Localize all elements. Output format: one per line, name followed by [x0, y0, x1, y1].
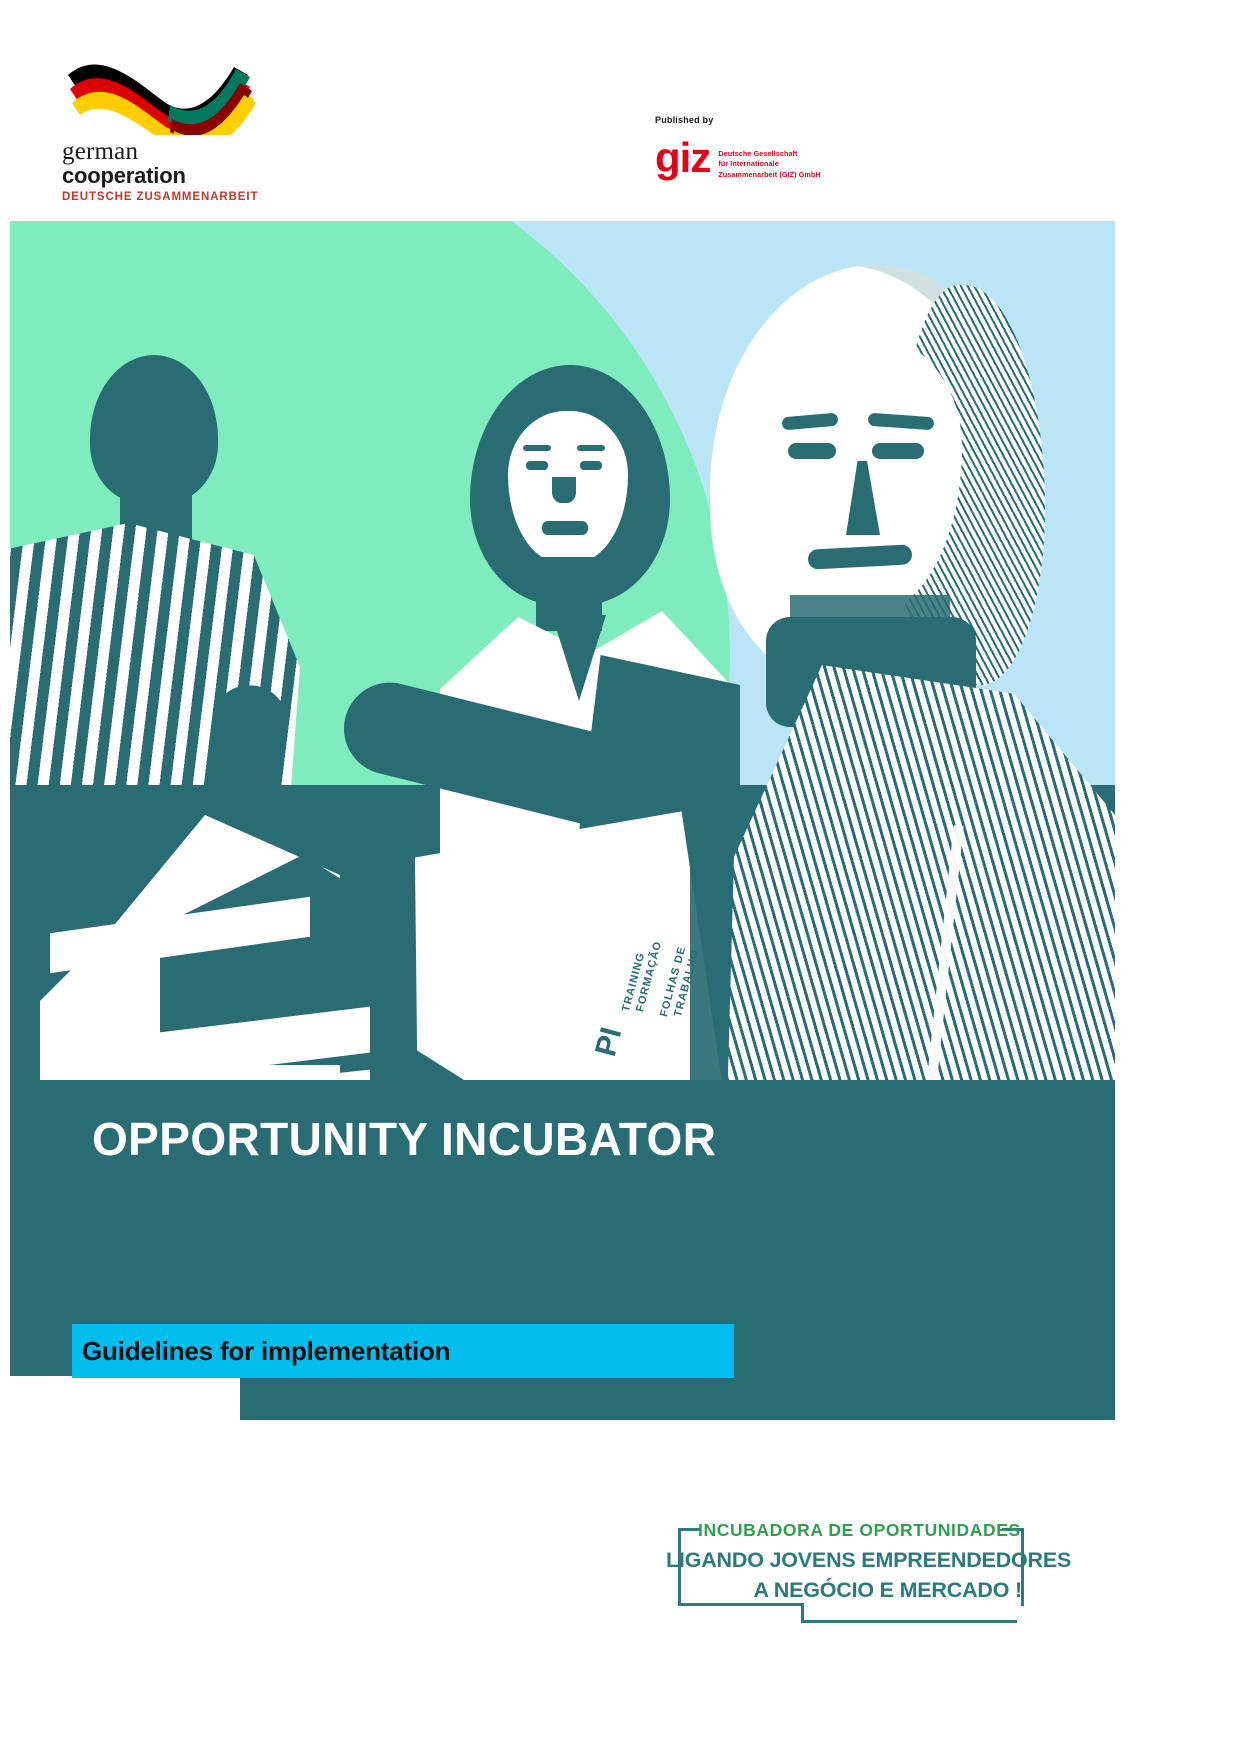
giz-logo: giz Deutsche Gesellschaft für Internatio…	[655, 143, 821, 180]
person-middle-brow-left	[523, 445, 551, 451]
person-right-eye-left	[788, 443, 836, 459]
giz-description-line2: für Internationale	[718, 159, 820, 169]
person-middle-brow-right	[577, 445, 605, 451]
page-subtitle: Guidelines for implementation	[82, 1336, 450, 1367]
german-cooperation-line3: DEUTSCHE ZUSAMMENARBEIT	[62, 191, 312, 203]
page-title: OPPORTUNITY INCUBATOR	[92, 1112, 716, 1166]
subtitle-band: Guidelines for implementation	[72, 1324, 734, 1378]
project-logo: INCUBADORA DE OPORTUNIDADES LIGANDO JOVE…	[660, 1520, 1030, 1630]
logo-bracket-top-left	[678, 1528, 700, 1531]
german-cooperation-logo: german cooperation DEUTSCHE ZUSAMMENARBE…	[62, 53, 312, 203]
person-middle-mouth	[542, 521, 588, 535]
giz-description-line3: Zusammenarbeit (GIZ) GmbH	[718, 170, 820, 180]
person-middle-eye-right	[580, 461, 602, 470]
logo-header-strip: german cooperation DEUTSCHE ZUSAMMENARBE…	[10, 25, 1115, 221]
person-right-eye-right	[872, 443, 924, 459]
person-right-scarf-drape	[726, 665, 1115, 1145]
german-cooperation-line1: german	[62, 139, 312, 164]
person-middle-eye-left	[526, 461, 548, 470]
person-right	[670, 265, 1115, 1145]
giz-description-line1: Deutsche Gesellschaft	[718, 149, 820, 159]
project-logo-line2: LIGANDO JOVENS EMPREENDEDORES	[666, 1548, 1071, 1573]
publisher-block: Published by giz Deutsche Gesellschaft f…	[655, 115, 821, 180]
logo-bracket-bottom-left	[678, 1603, 804, 1606]
published-by-label: Published by	[655, 115, 821, 125]
person-middle-nose	[552, 477, 576, 503]
logo-bracket-bottom-right	[801, 1620, 1017, 1623]
cover-page: PI TRAINING FORMAÇÃO FOLHAS DE TRABALHO	[0, 0, 1240, 1755]
german-mozambique-flag-ribbon-icon	[62, 53, 262, 135]
project-logo-line1: INCUBADORA DE OPORTUNIDADES	[698, 1520, 1021, 1541]
project-logo-line3: A NEGÓCIO E MERCADO !	[753, 1578, 1022, 1603]
giz-wordmark: giz	[655, 143, 710, 173]
giz-description: Deutsche Gesellschaft für Internationale…	[718, 149, 820, 180]
german-cooperation-line2: cooperation	[62, 164, 312, 188]
